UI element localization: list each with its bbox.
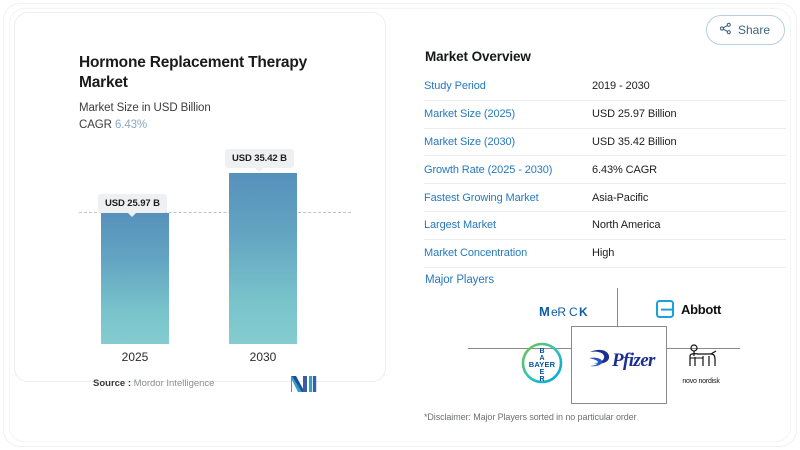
row-value: 6.43% CAGR [592,164,786,176]
row-label: Market Size (2025) [424,108,592,120]
bayer-logo: B A BAYER E R [521,342,563,389]
chart-card: Hormone Replacement Therapy Market Marke… [14,12,386,382]
row-value: USD 25.97 Billion [592,108,786,120]
abbott-logo: Abbott [656,300,721,318]
major-players-diagram: M eR C K Abbott [424,288,786,406]
players-disclaimer: *Disclaimer: Major Players sorted in no … [424,412,636,422]
bar-label-2025: USD 25.97 B [98,194,167,213]
pfizer-logo: Pfizer [586,346,660,377]
svg-text:BAYER: BAYER [529,360,556,369]
svg-text:M: M [539,304,549,319]
table-row: Study Period 2019 - 2030 [424,73,786,101]
row-value: USD 35.42 Billion [592,136,786,148]
bar-chart-plot: USD 25.97 B USD 35.42 B 2025 2030 [15,13,387,383]
row-label: Study Period [424,80,592,92]
major-players-title: Major Players [425,274,494,286]
row-label: Fastest Growing Market [424,192,592,204]
x-tick-2030: 2030 [229,350,297,364]
row-label: Growth Rate (2025 - 2030) [424,164,592,176]
source-label: Source : [93,378,131,389]
novo-nordisk-logo: novo nordisk [681,344,721,385]
table-row: Growth Rate (2025 - 2030) 6.43% CAGR [424,156,786,184]
merck-logo: M eR C K [539,304,601,324]
row-label: Largest Market [424,219,592,231]
novo-nordisk-wordmark: novo nordisk [681,378,721,385]
table-row: Market Size (2030) USD 35.42 Billion [424,129,786,157]
table-row: Largest Market North America [424,212,786,240]
svg-text:K: K [579,305,588,319]
bar-2025[interactable] [101,213,169,344]
svg-text:Pfizer: Pfizer [611,350,656,371]
bar-label-2030: USD 35.42 B [225,149,294,168]
market-overview-table: Study Period 2019 - 2030 Market Size (20… [424,73,786,268]
share-button-label: Share [738,23,770,37]
row-label: Market Size (2030) [424,136,592,148]
table-row: Market Concentration High [424,240,786,268]
svg-text:eR: eR [551,305,566,319]
abbott-wordmark: Abbott [681,302,721,317]
source-name: Mordor Intelligence [134,378,215,389]
mordor-intelligence-logo [291,375,317,398]
svg-text:E: E [540,369,545,376]
source-line: Source : Mordor Intelligence [93,378,214,389]
row-value: High [592,247,786,259]
bar-2030[interactable] [229,173,297,344]
market-summary-page: Hormone Replacement Therapy Market Marke… [0,0,800,450]
row-value: North America [592,219,786,231]
market-overview-title: Market Overview [425,49,531,64]
svg-text:C: C [569,305,578,319]
row-value: 2019 - 2030 [592,80,786,92]
x-tick-2025: 2025 [101,350,169,364]
row-label: Market Concentration [424,247,592,259]
row-value: Asia-Pacific [592,192,786,204]
share-nodes-icon [719,22,732,38]
svg-text:B: B [539,348,544,355]
share-button[interactable]: Share [706,15,785,45]
table-row: Market Size (2025) USD 25.97 Billion [424,101,786,129]
connector-vertical-top [617,288,618,327]
svg-text:R: R [539,376,544,383]
table-row: Fastest Growing Market Asia-Pacific [424,184,786,212]
